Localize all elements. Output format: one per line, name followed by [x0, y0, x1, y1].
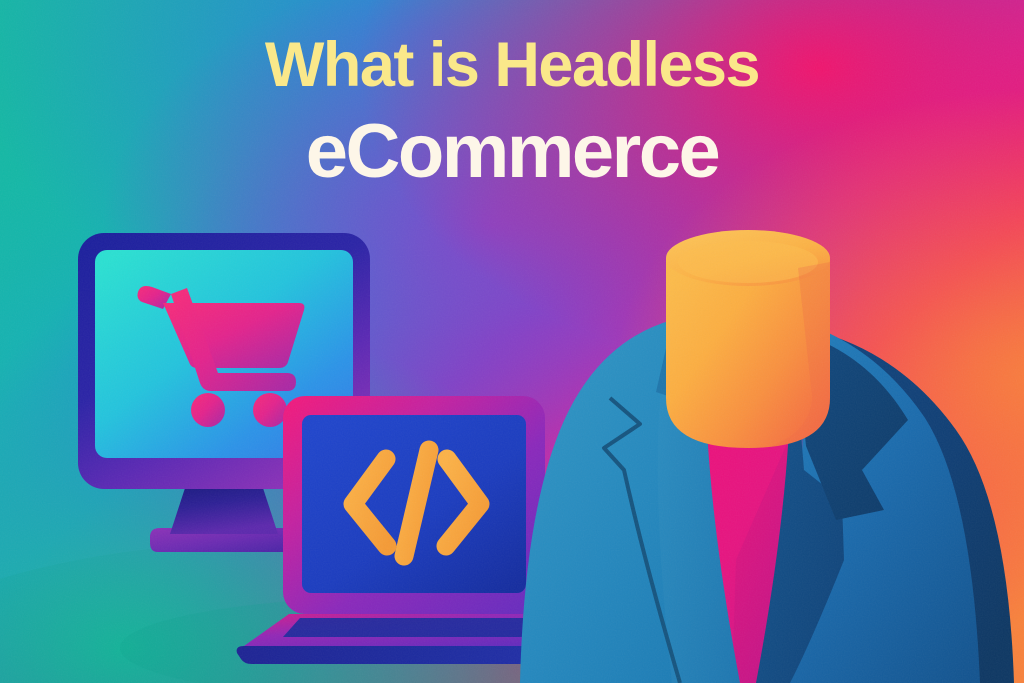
- headless-ecommerce-illustration: [0, 0, 1024, 683]
- illustration-canvas: What is Headless eCommerce: [0, 0, 1024, 683]
- grain-overlay: [0, 0, 1024, 683]
